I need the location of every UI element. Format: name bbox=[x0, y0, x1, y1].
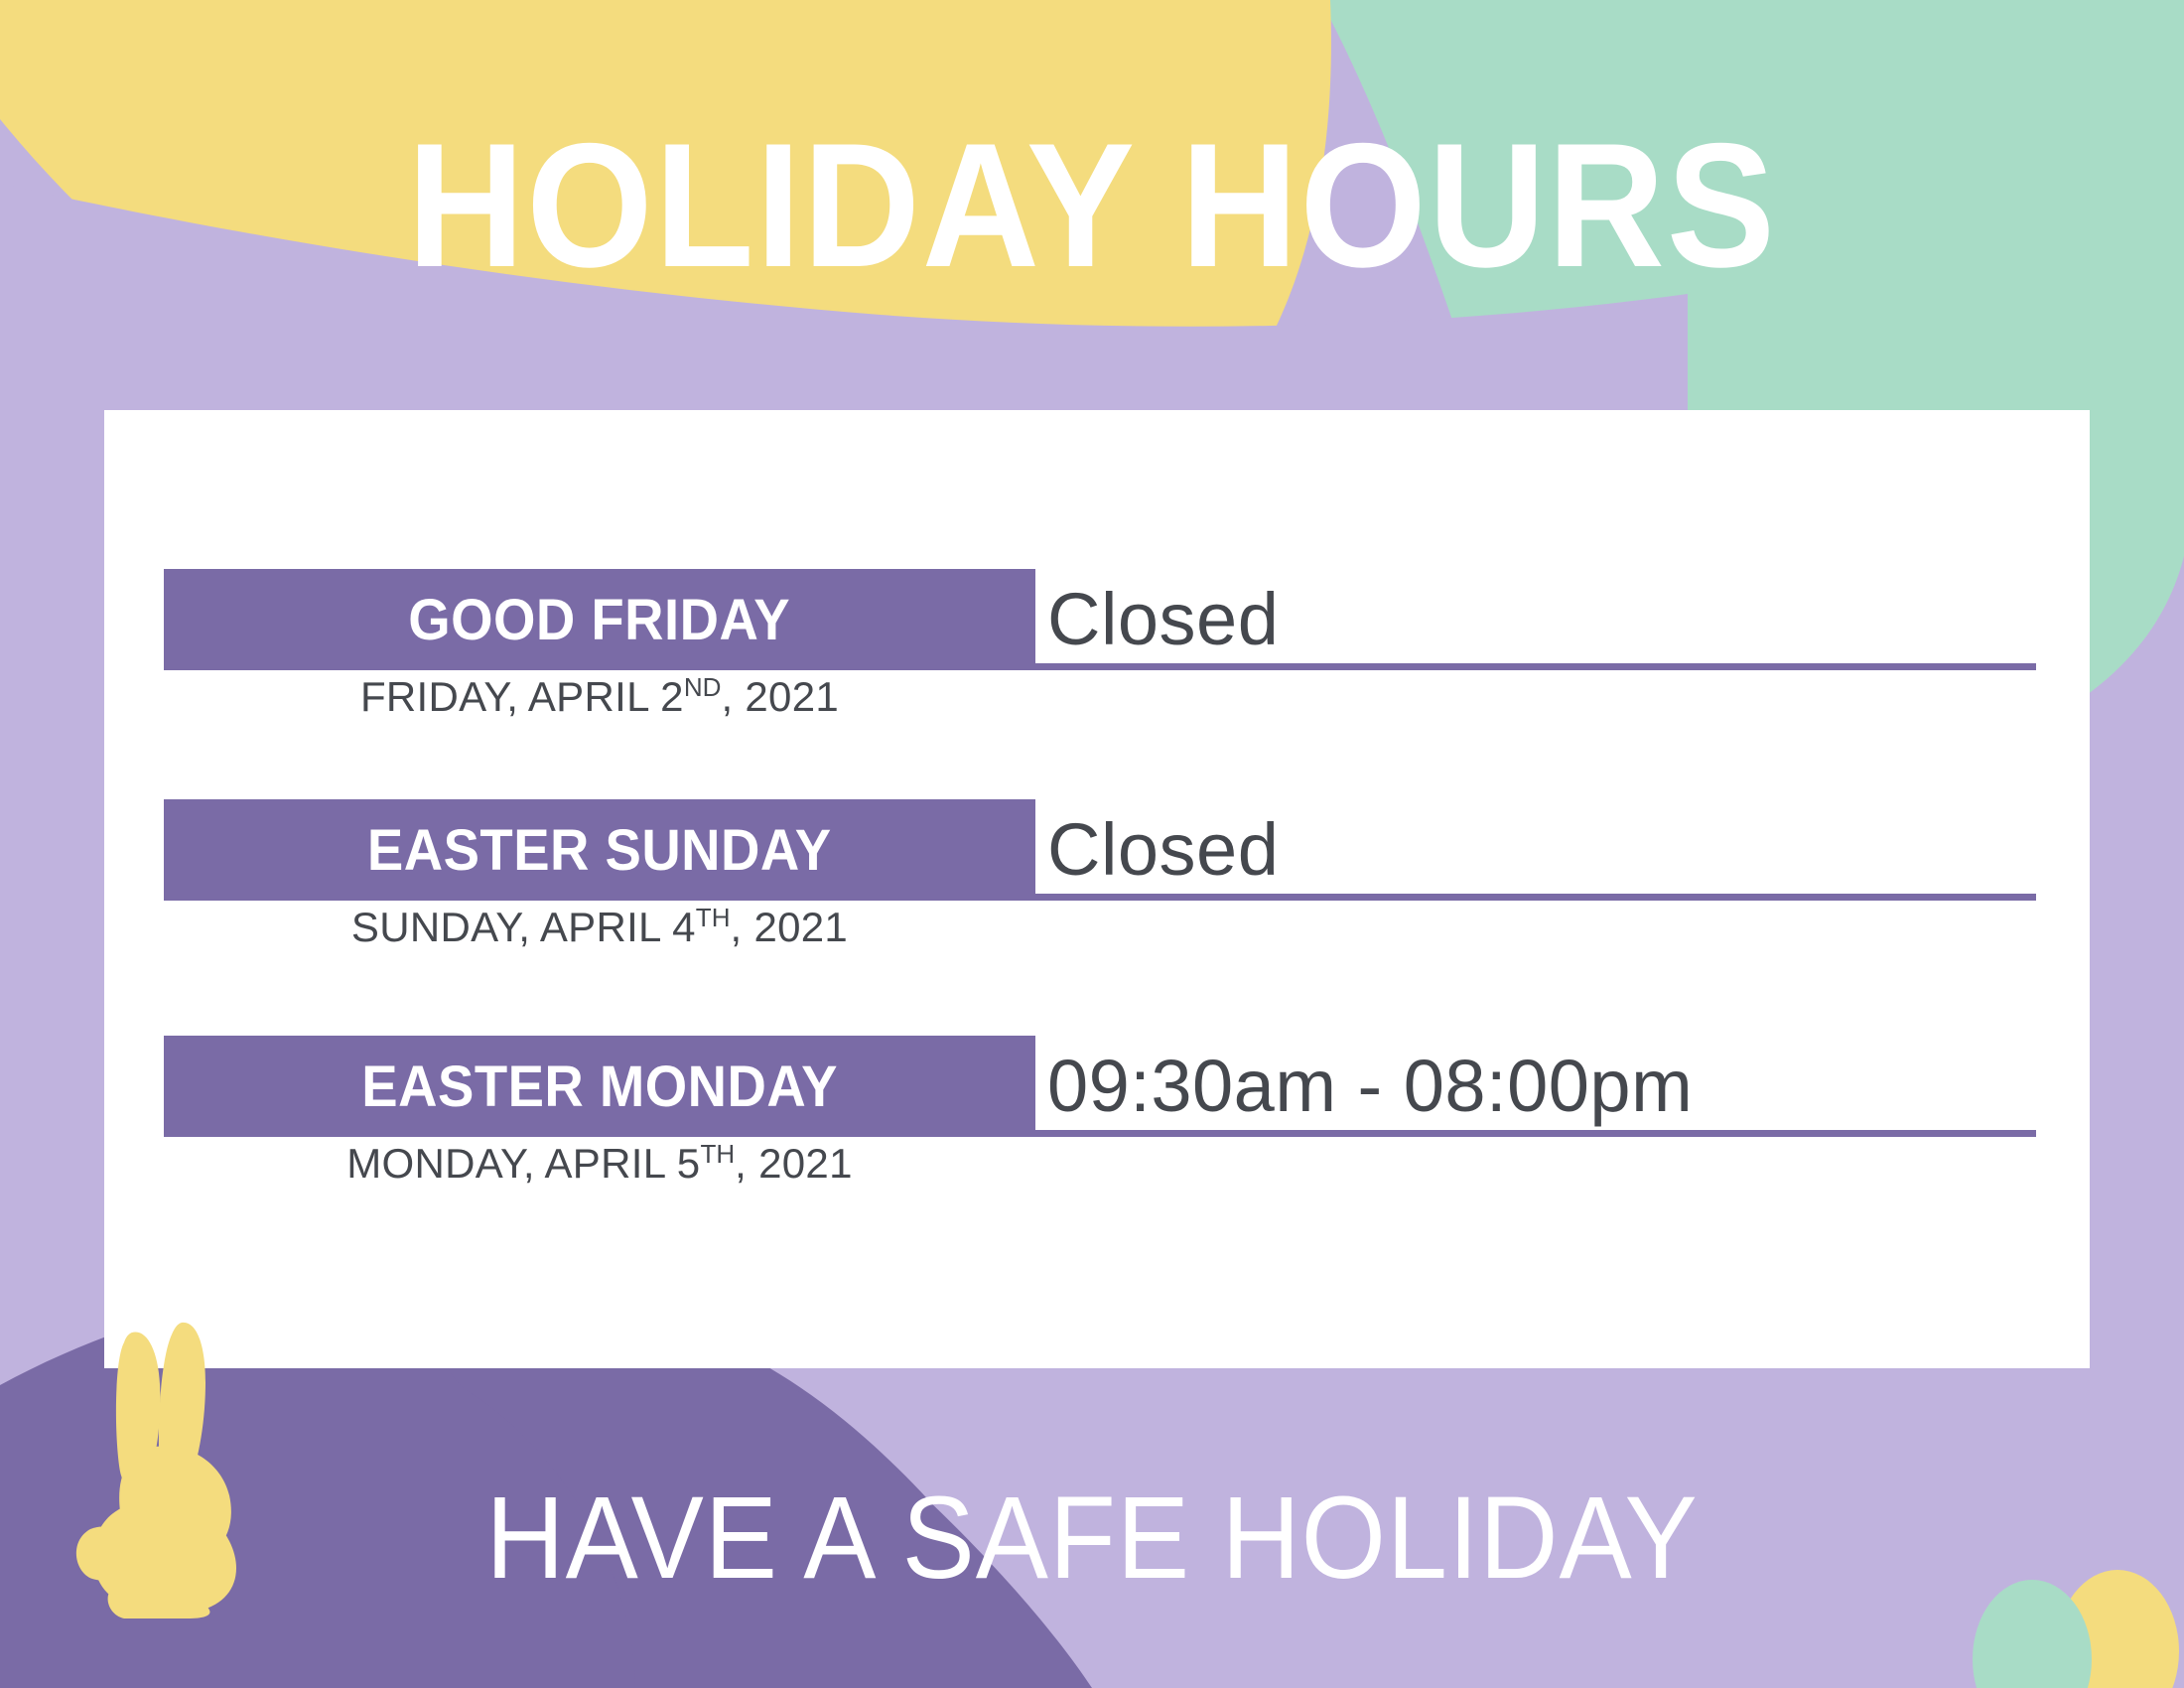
holiday-date: MONDAY, APRIL 5TH, 2021 bbox=[164, 1139, 1035, 1188]
holiday-date-prefix: FRIDAY, APRIL 2 bbox=[360, 673, 684, 720]
hours-underline bbox=[1035, 663, 2036, 670]
holiday-label-band: GOOD FRIDAY bbox=[164, 569, 1035, 670]
holiday-date-ordinal: TH bbox=[696, 903, 731, 932]
holiday-date-ordinal: TH bbox=[700, 1139, 735, 1169]
holiday-date-prefix: SUNDAY, APRIL 4 bbox=[351, 904, 696, 950]
schedule-rows: GOOD FRIDAY FRIDAY, APRIL 2ND, 2021 Clos… bbox=[104, 410, 2090, 1368]
hours-value: Closed bbox=[1047, 813, 1279, 887]
holiday-date-prefix: MONDAY, APRIL 5 bbox=[346, 1140, 700, 1187]
hours-value: Closed bbox=[1047, 583, 1279, 656]
holiday-date-suffix: , 2021 bbox=[731, 904, 849, 950]
hours-value: 09:30am - 08:00pm bbox=[1047, 1050, 1693, 1123]
holiday-name: EASTER SUNDAY bbox=[367, 817, 832, 884]
holiday-date: SUNDAY, APRIL 4TH, 2021 bbox=[164, 903, 1035, 951]
holiday-label-band: EASTER SUNDAY bbox=[164, 799, 1035, 901]
hours-cell: Closed bbox=[1035, 799, 2036, 901]
holiday-name: GOOD FRIDAY bbox=[409, 587, 791, 653]
hours-underline bbox=[1035, 1130, 2036, 1137]
holiday-name: EASTER MONDAY bbox=[361, 1054, 838, 1120]
holiday-date-ordinal: ND bbox=[684, 672, 722, 702]
holiday-date-suffix: , 2021 bbox=[721, 673, 839, 720]
holiday-hours-poster: HOLIDAY HOURS GOOD FRIDAY FRIDAY, APRIL … bbox=[0, 0, 2184, 1688]
poster-footer: HAVE A SAFE HOLIDAY bbox=[76, 1479, 2108, 1597]
hours-underline bbox=[1035, 894, 2036, 901]
holiday-date-suffix: , 2021 bbox=[735, 1140, 853, 1187]
schedule-card: GOOD FRIDAY FRIDAY, APRIL 2ND, 2021 Clos… bbox=[104, 410, 2090, 1368]
hours-cell: 09:30am - 08:00pm bbox=[1035, 1036, 2036, 1137]
holiday-label-band: EASTER MONDAY bbox=[164, 1036, 1035, 1137]
poster-title: HOLIDAY HOURS bbox=[87, 117, 2097, 294]
holiday-date: FRIDAY, APRIL 2ND, 2021 bbox=[164, 672, 1035, 721]
hours-cell: Closed bbox=[1035, 569, 2036, 670]
